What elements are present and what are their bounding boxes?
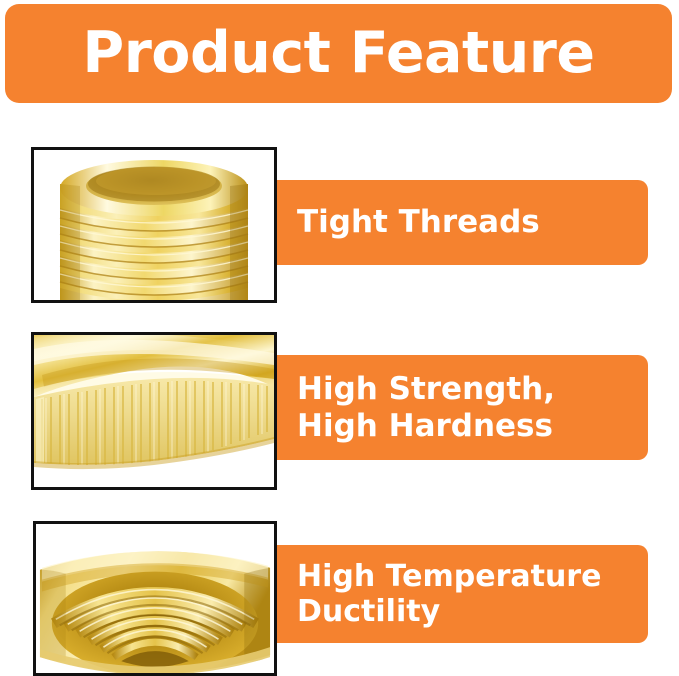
photo-inner-1 xyxy=(34,150,274,300)
photo-inner-2 xyxy=(34,335,274,487)
brass-male-thread-illustration xyxy=(34,150,274,300)
page-title: Product Feature xyxy=(82,25,594,82)
header-banner: Product Feature xyxy=(5,4,672,103)
feature-row-2: High Strength, High Hardness xyxy=(0,332,679,490)
feature-label-3-line-1: High Temperature xyxy=(297,559,648,594)
photo-inner-3 xyxy=(36,524,274,673)
feature-row-1: Tight Threads xyxy=(0,147,679,303)
feature-badge-2: High Strength, High Hardness xyxy=(277,355,648,460)
feature-label-2-line-2: High Hardness xyxy=(297,408,648,444)
feature-row-3: High Temperature Ductility xyxy=(0,521,679,676)
high-strength-photo xyxy=(31,332,277,490)
feature-badge-3: High Temperature Ductility xyxy=(277,545,648,643)
brass-knurled-body-illustration xyxy=(34,335,274,487)
brass-female-thread-illustration xyxy=(36,524,274,673)
high-temperature-ductility-photo xyxy=(33,521,277,676)
feature-badge-1: Tight Threads xyxy=(277,180,648,265)
feature-label-2-line-1: High Strength, xyxy=(297,371,648,407)
feature-label-3-line-2: Ductility xyxy=(297,594,648,629)
feature-label-1-line-1: Tight Threads xyxy=(297,204,648,240)
tight-threads-photo xyxy=(31,147,277,303)
